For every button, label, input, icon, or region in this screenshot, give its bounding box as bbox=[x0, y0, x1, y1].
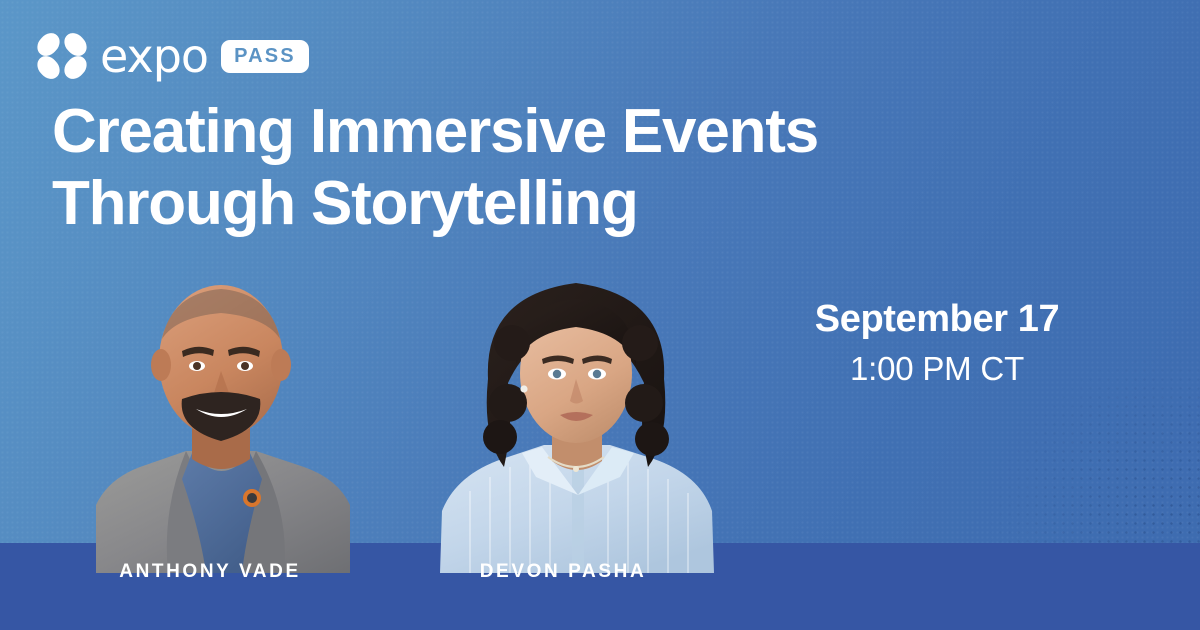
webinar-promo-banner: expo PASS Creating Immersive Events Thro… bbox=[0, 0, 1200, 630]
expo-x-mark-icon bbox=[38, 32, 86, 80]
speaker-name-2: DEVON PASHA bbox=[443, 560, 683, 584]
event-time: 1:00 PM CT bbox=[812, 346, 1062, 392]
speaker-photo-anthony-vade bbox=[36, 273, 406, 573]
title-line-1: Creating Immersive Events bbox=[52, 97, 818, 166]
event-schedule: September 17 1:00 PM CT bbox=[812, 296, 1062, 392]
logo-pass-badge: PASS bbox=[221, 40, 309, 73]
title-line-2: Through Storytelling bbox=[52, 168, 1072, 240]
expo-pass-logo: expo PASS bbox=[38, 28, 309, 84]
speaker-photo-devon-pasha bbox=[412, 261, 742, 573]
page-title: Creating Immersive Events Through Storyt… bbox=[52, 96, 1072, 240]
event-date: September 17 bbox=[812, 296, 1062, 342]
speaker-name-1: ANTHONY VADE bbox=[90, 560, 330, 584]
logo-wordmark: expo bbox=[100, 33, 208, 79]
